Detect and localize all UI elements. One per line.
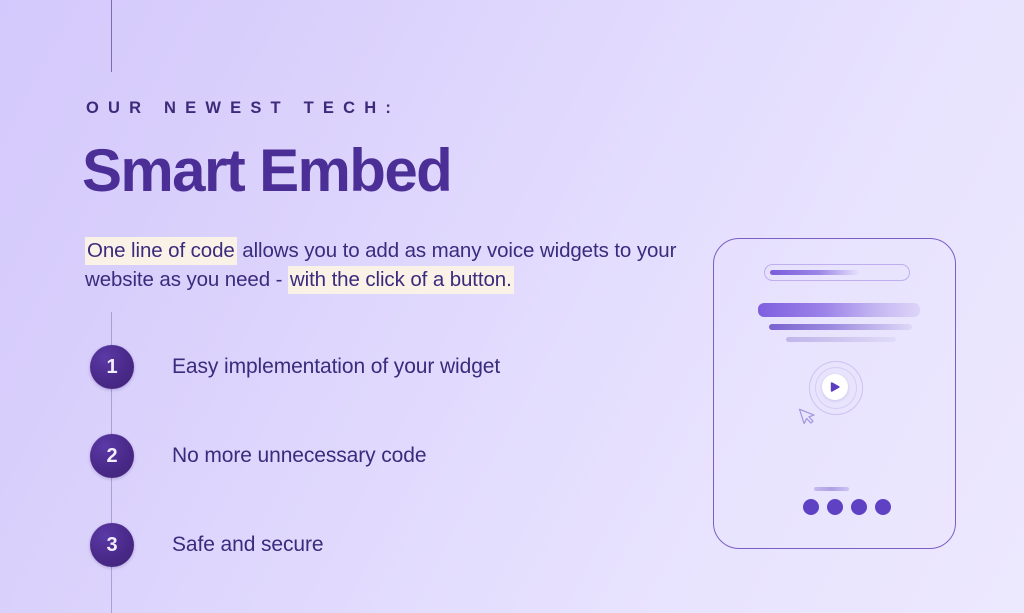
content-bar-large [758, 303, 920, 317]
step-label: Easy implementation of your widget [172, 355, 500, 379]
address-bar-placeholder [764, 264, 910, 281]
cursor-arrow-icon [798, 405, 818, 432]
lede-paragraph: One line of code allows you to add as ma… [85, 236, 700, 294]
dot [851, 499, 867, 515]
step-number-badge: 3 [90, 523, 134, 567]
eyebrow-label: OUR NEWEST TECH: [86, 99, 400, 118]
content-bar-small [786, 337, 896, 342]
step-label: No more unnecessary code [172, 444, 426, 468]
step-number-badge: 2 [90, 434, 134, 478]
step-number-badge: 1 [90, 345, 134, 389]
address-bar-fill [770, 270, 860, 275]
progress-scrubber [814, 487, 849, 491]
dot [803, 499, 819, 515]
pagination-dots [803, 499, 891, 515]
timeline-rail-top [111, 0, 112, 72]
lede-highlight-start: One line of code [85, 237, 237, 265]
step-label: Safe and secure [172, 533, 323, 557]
device-mockup [713, 238, 956, 549]
list-item: 3 Safe and secure [90, 523, 323, 567]
list-item: 2 No more unnecessary code [90, 434, 426, 478]
lede-highlight-end: with the click of a button. [288, 266, 514, 294]
promo-slide: OUR NEWEST TECH: Smart Embed One line of… [0, 0, 1024, 613]
play-icon [822, 374, 848, 400]
dot [875, 499, 891, 515]
dot [827, 499, 843, 515]
page-title: Smart Embed [82, 136, 451, 205]
list-item: 1 Easy implementation of your widget [90, 345, 500, 389]
content-bar-medium [769, 324, 912, 330]
